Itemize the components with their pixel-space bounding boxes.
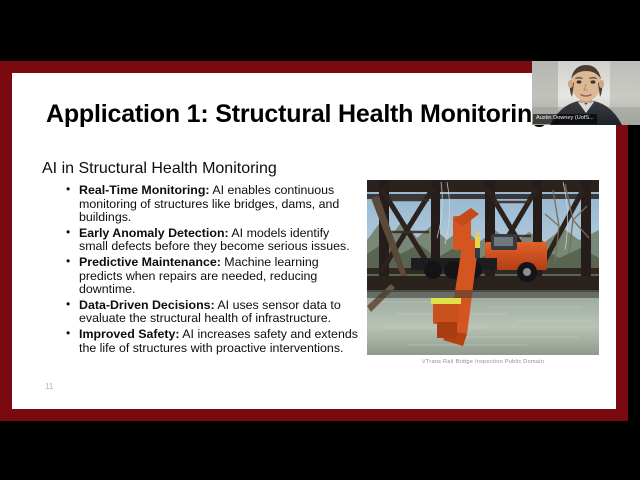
bullet-term: Predictive Maintenance: <box>79 255 221 269</box>
list-item: Predictive Maintenance: Machine learning… <box>64 256 359 297</box>
slide-canvas: Application 1: Structural Health Monitor… <box>12 73 616 409</box>
bullet-term: Improved Safety: <box>79 327 180 341</box>
participant-video-tile[interactable]: Austin Downey (UofS... <box>532 61 640 125</box>
participant-name-label: Austin Downey (UofS... <box>533 114 597 124</box>
bullet-term: Early Anomaly Detection: <box>79 226 229 240</box>
list-item: Real-Time Monitoring: AI enables continu… <box>64 184 359 225</box>
page-title: Application 1: Structural Health Monitor… <box>46 100 547 129</box>
image-caption: VTrans Rail Bridge Inspection Public Dom… <box>367 359 599 365</box>
list-item: Data-Driven Decisions: AI uses sensor da… <box>64 299 359 326</box>
list-item: Early Anomaly Detection: AI models ident… <box>64 227 359 254</box>
bullet-term: Data-Driven Decisions: <box>79 298 215 312</box>
bullet-term: Real-Time Monitoring: <box>79 183 210 197</box>
list-item: Improved Safety: AI increases safety and… <box>64 328 359 355</box>
slide-image-block: VTrans Rail Bridge Inspection Public Dom… <box>367 180 599 365</box>
body-heading: AI in Structural Health Monitoring <box>42 160 277 178</box>
video-call-stage: Application 1: Structural Health Monitor… <box>0 0 640 480</box>
bullet-list: Real-Time Monitoring: AI enables continu… <box>64 184 359 357</box>
slide-number: 11 <box>45 382 53 391</box>
bridge-inspection-photo <box>367 180 599 355</box>
